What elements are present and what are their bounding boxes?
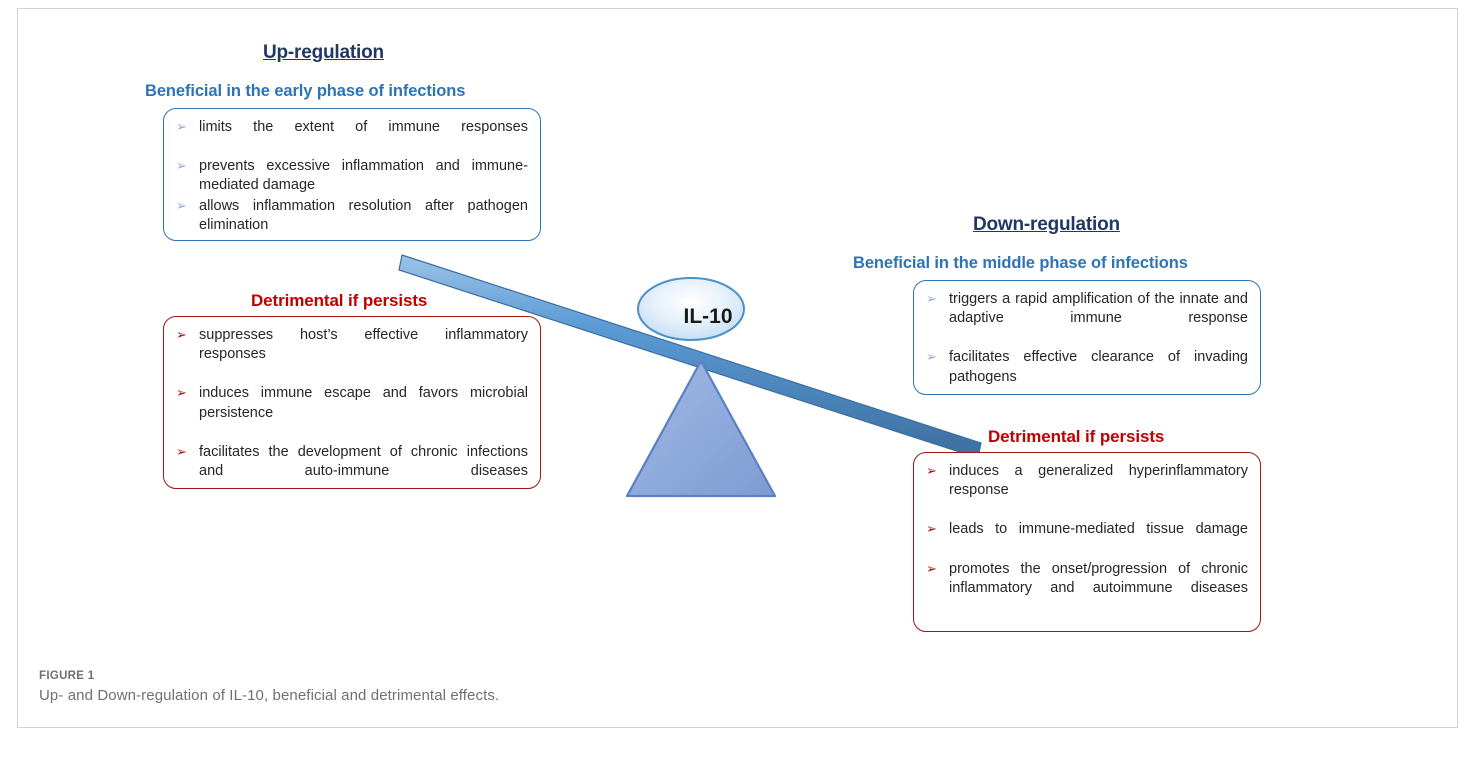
fulcrum-triangle [627, 361, 775, 496]
bullet-item: ➢ induces a generalized hyperinflammator… [924, 462, 1248, 519]
up-regulation-beneficial-box: ➢ limits the extent of immune responses … [163, 108, 541, 241]
up-regulation-title: Up-regulation [263, 42, 384, 64]
il10-label: IL-10 [655, 286, 761, 348]
arrow-bullet-icon: ➢ [176, 157, 187, 174]
bullet-list: ➢ suppresses host’s effective inflammato… [174, 326, 528, 500]
arrow-bullet-icon: ➢ [176, 326, 187, 343]
figure-caption: FIGURE 1 Up- and Down-regulation of IL-1… [39, 670, 1139, 704]
arrow-bullet-icon: ➢ [926, 520, 937, 537]
arrow-bullet-icon: ➢ [176, 118, 187, 135]
figure-root: IL-10 Up-regulation Beneficial in the ea… [0, 0, 1484, 772]
arrow-bullet-icon: ➢ [926, 560, 937, 577]
down-regulation-detrimental-subtitle: Detrimental if persists [988, 427, 1164, 447]
bullet-list: ➢ induces a generalized hyperinflammator… [924, 462, 1248, 617]
arrow-bullet-icon: ➢ [176, 197, 187, 214]
up-regulation-beneficial-subtitle: Beneficial in the early phase of infecti… [145, 82, 465, 101]
bullet-item: ➢ limits the extent of immune responses [174, 118, 528, 156]
arrow-bullet-icon: ➢ [176, 443, 187, 460]
bullet-item: ➢ allows inflammation resolution after p… [174, 197, 528, 254]
bullet-item: ➢ prevents excessive inflammation and im… [174, 157, 528, 195]
figure-canvas: IL-10 Up-regulation Beneficial in the ea… [18, 9, 1459, 729]
down-regulation-detrimental-box: ➢ induces a generalized hyperinflammator… [913, 452, 1261, 632]
arrow-bullet-icon: ➢ [926, 290, 937, 307]
bullet-item: ➢ promotes the onset/progression of chro… [924, 560, 1248, 617]
figure-panel-frame: IL-10 Up-regulation Beneficial in the ea… [17, 8, 1458, 728]
bullet-item: ➢ triggers a rapid amplification of the … [924, 290, 1248, 347]
down-regulation-beneficial-subtitle: Beneficial in the middle phase of infect… [853, 254, 1188, 273]
up-regulation-detrimental-box: ➢ suppresses host’s effective inflammato… [163, 316, 541, 489]
bullet-item: ➢ suppresses host’s effective inflammato… [174, 326, 528, 383]
bullet-item: ➢ facilitates the development of chronic… [174, 443, 528, 500]
arrow-bullet-icon: ➢ [926, 462, 937, 479]
arrow-bullet-icon: ➢ [926, 348, 937, 365]
bullet-list: ➢ limits the extent of immune responses … [174, 118, 528, 254]
figure-caption-label: FIGURE 1 [39, 670, 1139, 682]
bullet-item: ➢ facilitates effective clearance of inv… [924, 348, 1248, 405]
bullet-item: ➢ induces immune escape and favors micro… [174, 384, 528, 441]
down-regulation-beneficial-box: ➢ triggers a rapid amplification of the … [913, 280, 1261, 395]
up-regulation-detrimental-subtitle: Detrimental if persists [251, 291, 427, 311]
down-regulation-title: Down-regulation [973, 214, 1120, 236]
figure-caption-text: Up- and Down-regulation of IL-10, benefi… [39, 687, 1139, 704]
bullet-list: ➢ triggers a rapid amplification of the … [924, 290, 1248, 406]
bullet-item: ➢ leads to immune-mediated tissue damage [924, 520, 1248, 558]
arrow-bullet-icon: ➢ [176, 384, 187, 401]
